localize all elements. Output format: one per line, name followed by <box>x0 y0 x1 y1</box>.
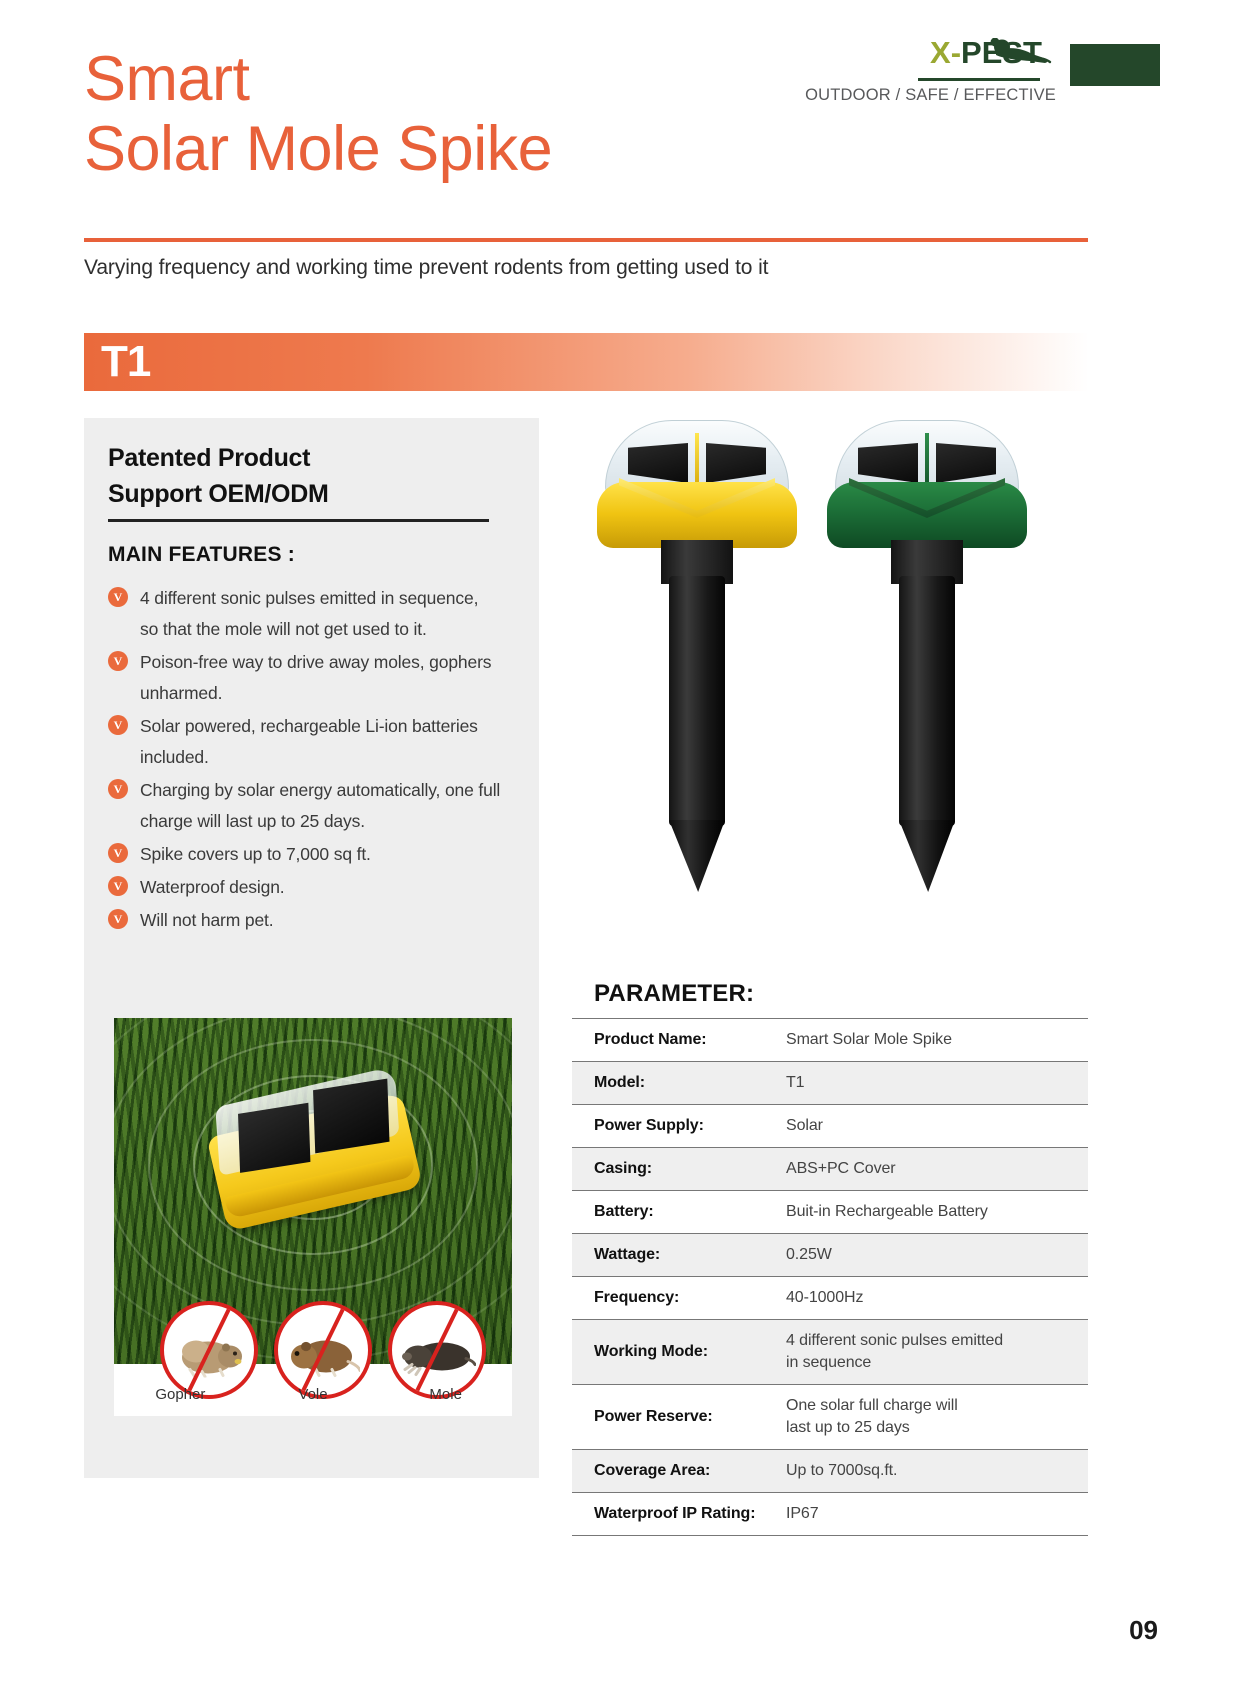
table-row: Coverage Area:Up to 7000sq.ft. <box>572 1450 1088 1493</box>
feature-text: Waterproof design. <box>140 877 285 897</box>
title-divider <box>84 238 1088 242</box>
check-icon: V <box>108 651 128 671</box>
no-mole-icon <box>388 1301 486 1399</box>
solar-cell-left <box>628 443 688 483</box>
check-icon: V <box>108 715 128 735</box>
green-mole-spike-photo <box>827 420 1027 890</box>
solar-panel-left <box>238 1103 310 1173</box>
pest-labels-row: GopherVoleMole <box>114 1386 512 1403</box>
parameter-value: Solar <box>764 1105 1088 1148</box>
table-row: Wattage:0.25W <box>572 1234 1088 1277</box>
yellow-mole-spike-photo <box>597 420 797 890</box>
parameter-key: Waterproof IP Rating: <box>572 1493 764 1536</box>
parameter-value: Up to 7000sq.ft. <box>764 1450 1088 1493</box>
parameter-key: Battery: <box>572 1191 764 1234</box>
parameter-key: Model: <box>572 1062 764 1105</box>
page-title: Smart Solar Mole Spike <box>84 44 552 184</box>
parameter-value: Smart Solar Mole Spike <box>764 1019 1088 1062</box>
pest-label: Gopher <box>114 1386 247 1403</box>
parameter-heading: PARAMETER: <box>594 980 754 1008</box>
logo-color-block <box>1070 44 1160 86</box>
check-icon: V <box>108 779 128 799</box>
feature-item: VWill not harm pet. <box>108 905 518 936</box>
parameter-key: Frequency: <box>572 1277 764 1320</box>
pest-label: Vole <box>247 1386 380 1403</box>
parameter-value: T1 <box>764 1062 1088 1105</box>
no-vole-icon <box>274 1301 372 1399</box>
features-list: V4 different sonic pulses emitted in seq… <box>108 583 518 938</box>
check-icon: V <box>108 587 128 607</box>
feature-item: VPoison-free way to drive away moles, go… <box>108 647 518 709</box>
collar-v-shape <box>619 478 775 518</box>
brand-logo: X- PEST OUTDOOR / SAFE / EFFECTIVE <box>860 36 1160 106</box>
vole-illustration <box>286 1332 360 1383</box>
parameter-value: Buit-in Rechargeable Battery <box>764 1191 1088 1234</box>
feature-item: VSpike covers up to 7,000 sq ft. <box>108 839 518 870</box>
parameter-value: 0.25W <box>764 1234 1088 1277</box>
check-icon: V <box>108 843 128 863</box>
logo-x-text: X- <box>930 36 961 70</box>
model-badge-bar: T1 <box>84 333 1089 391</box>
spike-shaft <box>669 576 725 826</box>
parameter-value: One solar full charge willlast up to 25 … <box>764 1385 1088 1450</box>
spike-tip <box>669 820 725 892</box>
page-number: 09 <box>1129 1615 1158 1646</box>
table-row: Waterproof IP Rating:IP67 <box>572 1493 1088 1536</box>
no-gopher-icon <box>160 1301 258 1399</box>
device-collar <box>597 482 797 548</box>
features-heading: MAIN FEATURES : <box>108 543 295 567</box>
table-row: Casing:ABS+PC Cover <box>572 1148 1088 1191</box>
feature-text: 4 different sonic pulses emitted in sequ… <box>140 588 478 639</box>
feature-item: V4 different sonic pulses emitted in seq… <box>108 583 518 645</box>
mouse-icon <box>986 38 1052 77</box>
parameter-table: Product Name:Smart Solar Mole SpikeModel… <box>572 1018 1088 1536</box>
table-row: Power Supply:Solar <box>572 1105 1088 1148</box>
panel-heading-line-1: Patented Product <box>108 440 328 476</box>
parameter-key: Casing: <box>572 1148 764 1191</box>
pest-label: Mole <box>379 1386 512 1403</box>
table-row: Battery:Buit-in Rechargeable Battery <box>572 1191 1088 1234</box>
feature-text: Poison-free way to drive away moles, gop… <box>140 652 491 703</box>
collar-v-shape <box>849 478 1005 518</box>
product-in-grass-photo <box>114 1018 512 1416</box>
feature-item: VWaterproof design. <box>108 872 518 903</box>
logo-tagline: OUTDOOR / SAFE / EFFECTIVE <box>805 86 1056 105</box>
page-subtitle: Varying frequency and working time preve… <box>84 256 768 280</box>
spike-tip <box>899 820 955 892</box>
feature-item: VCharging by solar energy automatically,… <box>108 775 518 837</box>
parameter-value: 4 different sonic pulses emittedin seque… <box>764 1320 1088 1385</box>
parameter-value: 40-1000Hz <box>764 1277 1088 1320</box>
feature-text: Solar powered, rechargeable Li-ion batte… <box>140 716 478 767</box>
spike-shaft <box>899 576 955 826</box>
parameter-key: Power Supply: <box>572 1105 764 1148</box>
solar-panel-right <box>313 1079 389 1154</box>
title-line-2: Solar Mole Spike <box>84 114 552 184</box>
device-collar <box>827 482 1027 548</box>
parameter-key: Power Reserve: <box>572 1385 764 1450</box>
table-row: Model:T1 <box>572 1062 1088 1105</box>
panel-heading-line-2: Support OEM/ODM <box>108 476 328 512</box>
table-row: Working Mode:4 different sonic pulses em… <box>572 1320 1088 1385</box>
logo-underline <box>918 78 1040 81</box>
panel-heading: Patented Product Support OEM/ODM <box>108 440 328 512</box>
solar-cell-right <box>936 443 996 483</box>
solar-cell-left <box>858 443 918 483</box>
gopher-illustration <box>172 1332 246 1383</box>
parameter-value: IP67 <box>764 1493 1088 1536</box>
mole-illustration <box>398 1333 476 1382</box>
table-row: Power Reserve:One solar full charge will… <box>572 1385 1088 1450</box>
check-icon: V <box>108 876 128 896</box>
check-icon: V <box>108 909 128 929</box>
feature-text: Will not harm pet. <box>140 910 273 930</box>
model-badge-label: T1 <box>101 337 150 387</box>
product-photos <box>575 420 1095 920</box>
parameter-key: Product Name: <box>572 1019 764 1062</box>
parameter-value: ABS+PC Cover <box>764 1148 1088 1191</box>
table-row: Product Name:Smart Solar Mole Spike <box>572 1019 1088 1062</box>
parameter-key: Working Mode: <box>572 1320 764 1385</box>
dome-ridge <box>695 433 699 489</box>
feature-text: Charging by solar energy automatically, … <box>140 780 500 831</box>
panel-divider <box>108 519 489 522</box>
parameter-key: Coverage Area: <box>572 1450 764 1493</box>
title-line-1: Smart <box>84 44 552 114</box>
table-row: Frequency:40-1000Hz <box>572 1277 1088 1320</box>
solar-cell-right <box>706 443 766 483</box>
feature-text: Spike covers up to 7,000 sq ft. <box>140 844 371 864</box>
feature-item: VSolar powered, rechargeable Li-ion batt… <box>108 711 518 773</box>
dome-ridge <box>925 433 929 489</box>
datasheet-page: Smart Solar Mole Spike Varying frequency… <box>0 0 1242 1684</box>
parameter-key: Wattage: <box>572 1234 764 1277</box>
